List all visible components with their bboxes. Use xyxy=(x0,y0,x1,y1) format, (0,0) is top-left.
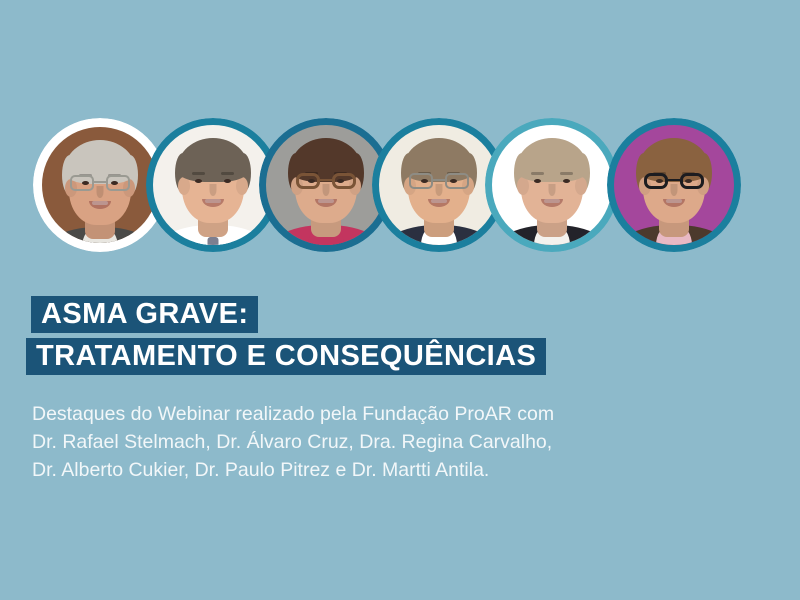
portrait-photo-1 xyxy=(42,127,158,243)
title-line-1: ASMA GRAVE: xyxy=(31,296,258,333)
glasses-lens-l-4 xyxy=(409,173,433,189)
portrait-tie-2 xyxy=(208,237,219,245)
portrait-brow-right-5 xyxy=(560,172,573,175)
glasses-icon-3 xyxy=(294,173,358,190)
glasses-lens-r-4 xyxy=(445,173,469,189)
glasses-icon-6 xyxy=(642,173,706,190)
title-line-2: TRATAMENTO E CONSEQUÊNCIAS xyxy=(26,338,546,375)
portrait-eye-right-2 xyxy=(224,179,231,183)
glasses-bridge-3 xyxy=(320,179,332,181)
speaker-portrait-5 xyxy=(485,118,619,252)
glasses-lens-l-6 xyxy=(644,173,668,189)
speaker-portrait-6 xyxy=(607,118,741,252)
speakers-portrait-row xyxy=(0,118,800,254)
portrait-photo-6 xyxy=(614,125,734,245)
title-block: ASMA GRAVE: TRATAMENTO E CONSEQUÊNCIAS xyxy=(0,296,546,375)
glasses-icon-1 xyxy=(68,175,132,192)
subtitle-line-2: Dr. Rafael Stelmach, Dr. Álvaro Cruz, Dr… xyxy=(32,428,554,456)
portrait-eye-left-2 xyxy=(195,179,202,183)
portrait-photo-3 xyxy=(266,125,386,245)
portrait-ear-right-2 xyxy=(236,177,248,195)
portrait-brow-left-5 xyxy=(531,172,544,175)
glasses-bridge-6 xyxy=(668,179,680,181)
portrait-ear-right-5 xyxy=(575,177,587,195)
subtitle-block: Destaques do Webinar realizado pela Fund… xyxy=(32,400,554,484)
poster-canvas: ASMA GRAVE: TRATAMENTO E CONSEQUÊNCIAS D… xyxy=(0,0,800,600)
subtitle-line-3: Dr. Alberto Cukier, Dr. Paulo Pitrez e D… xyxy=(32,456,554,484)
portrait-eye-right-5 xyxy=(563,179,570,183)
portrait-eye-left-5 xyxy=(534,179,541,183)
glasses-lens-r-6 xyxy=(680,173,704,189)
portrait-nose-2 xyxy=(210,184,217,196)
glasses-lens-r-1 xyxy=(106,175,130,191)
glasses-lens-l-3 xyxy=(296,173,320,189)
portrait-photo-2 xyxy=(153,125,273,245)
portrait-photo-4 xyxy=(379,125,499,245)
subtitle-line-1: Destaques do Webinar realizado pela Fund… xyxy=(32,400,554,428)
portrait-brow-left-2 xyxy=(192,172,205,175)
glasses-lens-r-3 xyxy=(332,173,356,189)
portrait-photo-5 xyxy=(492,125,612,245)
glasses-icon-4 xyxy=(407,173,471,190)
glasses-bridge-4 xyxy=(433,179,445,181)
glasses-lens-l-1 xyxy=(70,175,94,191)
portrait-nose-5 xyxy=(549,184,556,196)
portrait-brow-right-2 xyxy=(221,172,234,175)
glasses-bridge-1 xyxy=(94,181,106,183)
